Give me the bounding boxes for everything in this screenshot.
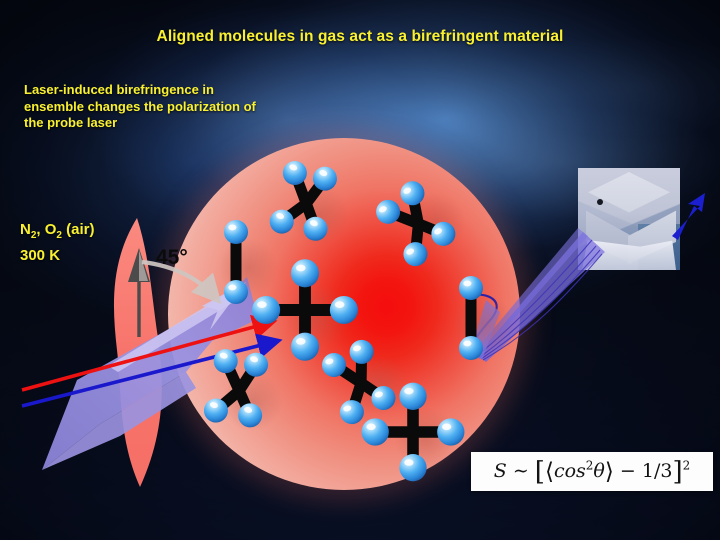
molecule-atom-highlight (463, 281, 471, 287)
formula-fraction: 1/3 (642, 460, 673, 482)
formula-box: S ∼ [⟨cos2θ⟩ − 1/3]2 (471, 452, 713, 491)
molecule-atom-sphere (252, 296, 280, 324)
molecule-atom-highlight (442, 424, 451, 431)
molecule-atom-highlight (257, 301, 267, 308)
molecule-atom-sphere (224, 280, 248, 304)
molecule-atom-highlight (404, 459, 413, 466)
molecule-atom-sphere (459, 276, 483, 300)
formula-angle-close: ⟩ (605, 459, 614, 485)
page-title: Aligned molecules in gas act as a birefr… (0, 28, 720, 46)
gas-species-sep: , O (36, 221, 56, 238)
slide-canvas: Aligned molecules in gas act as a birefr… (0, 0, 720, 540)
formula-function: cos (554, 460, 586, 482)
formula-relation: ∼ (513, 460, 529, 482)
formula-bracket-open: [ (535, 457, 545, 487)
formula-variable: θ (593, 460, 604, 482)
molecule-bent-upper-right (369, 166, 476, 273)
crystal-exit-arrow (672, 193, 705, 240)
signal-formula: S ∼ [⟨cos2θ⟩ − 1/3]2 (494, 457, 691, 487)
molecule-atom-sphere (224, 220, 248, 244)
molecule-atom-sphere (399, 383, 426, 410)
molecule-atom-sphere (330, 296, 358, 324)
molecule-bent-center-low (318, 331, 415, 428)
angle-label: 45° (156, 246, 188, 270)
molecule-atom-sphere (459, 336, 483, 360)
molecule-atom-sphere (291, 333, 319, 361)
formula-outer-power: 2 (683, 458, 691, 472)
gas-conditions-label: N2, O2 (air) 300 K (20, 220, 95, 266)
molecule-bent-upper-left (261, 152, 365, 256)
formula-bracket-close: ] (672, 457, 682, 487)
molecule-atom-highlight (296, 338, 306, 345)
gas-species-air: (air) (62, 221, 95, 238)
molecule-atom-sphere (437, 418, 464, 445)
molecule-atom-highlight (366, 424, 375, 431)
molecule-linear-left (218, 220, 278, 304)
molecule-atom-highlight (463, 341, 471, 347)
formula-angle-open: ⟨ (545, 459, 554, 485)
caption-text: Laser-induced birefringence in ensemble … (24, 82, 274, 132)
gas-species-n: N (20, 221, 31, 238)
molecule-atom-sphere (362, 418, 389, 445)
molecule-atom-highlight (228, 285, 236, 291)
molecule-atom-sphere (399, 454, 426, 481)
molecule-atom-sphere (291, 259, 319, 287)
formula-minus: − (620, 460, 636, 482)
molecule-atom-sphere (372, 196, 404, 228)
molecule-atom-highlight (228, 225, 236, 231)
formula-lhs: S (494, 460, 507, 482)
molecule-atom-highlight (335, 301, 345, 308)
molecule-atom-sphere (279, 157, 310, 188)
gas-temperature-line: 300 K (20, 246, 95, 266)
molecule-atom-highlight (404, 388, 413, 395)
molecule-atom-highlight (296, 265, 306, 272)
gas-species-line: N2, O2 (air) (20, 220, 95, 246)
molecule-bent-lower-left (195, 340, 296, 441)
